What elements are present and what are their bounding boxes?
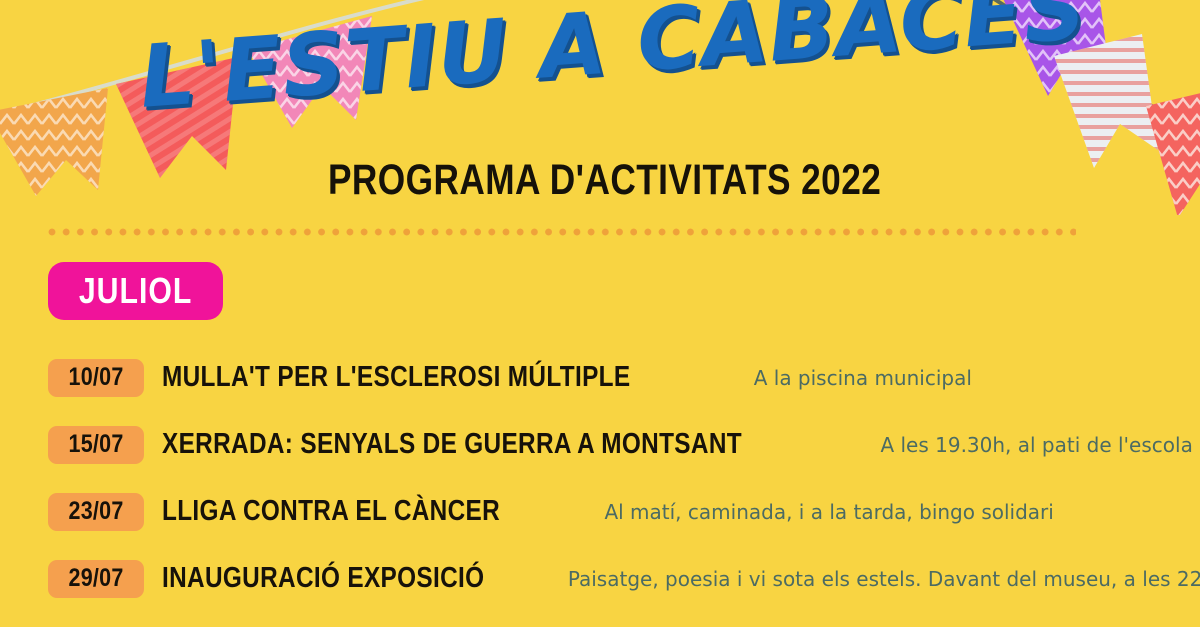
event-row: 15/07 XERRADA: SENYALS DE GUERRA A MONTS… [48, 411, 1188, 478]
event-row: 23/07 LLIGA CONTRA EL CÀNCER Al matí, ca… [48, 478, 1188, 545]
event-list: 10/07 MULLA'T PER L'ESCLEROSI MÚLTIPLE A… [48, 344, 1188, 627]
event-description-cell: Al matí, caminada, i a la tarda, bingo s… [604, 502, 1053, 522]
event-description-cell: A les 19.30h, al pati de l'escola [880, 435, 1192, 455]
month-badge-label: JULIOL [79, 273, 193, 309]
event-row: 10/07 MULLA'T PER L'ESCLEROSI MÚLTIPLE A… [48, 344, 1188, 411]
event-row: 29/07 INAUGURACIÓ EXPOSICIÓ Paisatge, po… [48, 545, 1188, 612]
event-description-cell: A la piscina municipal [754, 368, 972, 388]
event-name-cell: LLIGA CONTRA EL CÀNCER [162, 497, 564, 526]
event-description: Paisatge, poesia i vi sota els estels. D… [568, 569, 1200, 589]
event-date-badge: 15/07 [48, 426, 144, 464]
event-date-badge: 29/07 [48, 560, 144, 598]
event-date-badge: 10/07 [48, 359, 144, 397]
poster-subtitle: PROGRAMA D'ACTIVITATS 2022 [328, 156, 881, 205]
event-description-cell: Paisatge, poesia i vi sota els estels. D… [568, 569, 1200, 589]
event-name-cell: INAUGURACIÓ EXPOSICIÓ [162, 564, 546, 593]
page-title: L'ESTIU A CABACÉS [136, 0, 1089, 128]
event-name: XERRADA: SENYALS DE GUERRA A MONTSANT [162, 430, 742, 459]
event-description: A la piscina municipal [754, 368, 972, 388]
event-name-cell: XERRADA: SENYALS DE GUERRA A MONTSANT [162, 430, 852, 459]
event-description: A les 19.30h, al pati de l'escola [880, 435, 1192, 455]
event-date-badge: 23/07 [48, 493, 144, 531]
event-name-cell: MULLA'T PER L'ESCLEROSI MÚLTIPLE [162, 363, 720, 392]
event-date-label: 10/07 [68, 365, 123, 390]
month-badge-juliol: JULIOL [48, 262, 223, 320]
event-description: Al matí, caminada, i a la tarda, bingo s… [604, 502, 1053, 522]
event-date-label: 29/07 [68, 566, 123, 591]
event-name: INAUGURACIÓ EXPOSICIÓ [162, 564, 484, 593]
event-name: MULLA'T PER L'ESCLEROSI MÚLTIPLE [162, 363, 630, 392]
poster-canvas: L'ESTIU A CABACÉS PROGRAMA D'ACTIVITATS … [0, 0, 1200, 627]
event-row-partial [48, 612, 1188, 627]
event-name: LLIGA CONTRA EL CÀNCER [162, 497, 500, 526]
event-date-label: 15/07 [68, 432, 123, 457]
event-date-label: 23/07 [68, 499, 123, 524]
poster-header: L'ESTIU A CABACÉS [0, 20, 1200, 160]
dotted-divider [48, 228, 1076, 236]
